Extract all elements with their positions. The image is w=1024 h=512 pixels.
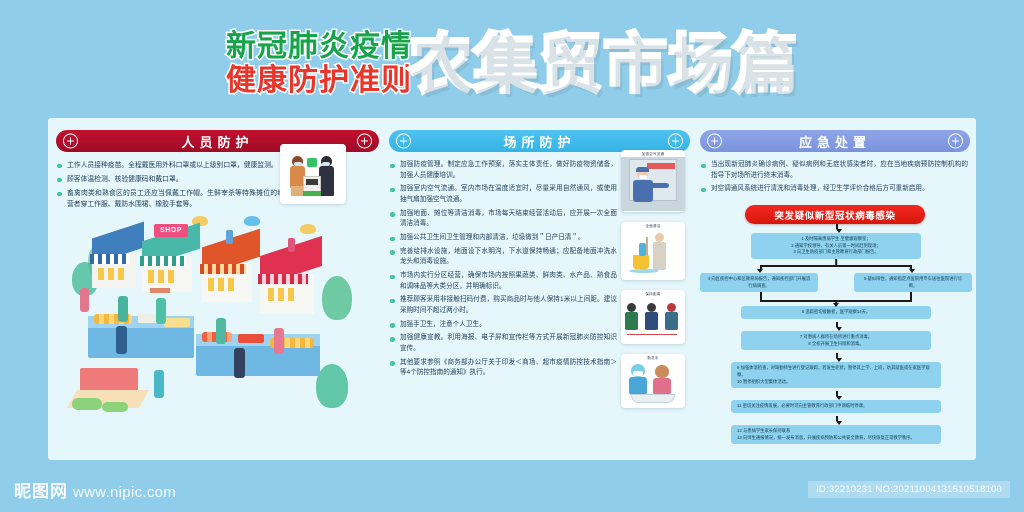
shopper-figure	[234, 348, 245, 378]
stall-window	[98, 268, 104, 280]
washing-illustration	[621, 361, 685, 407]
shopper-figure	[80, 288, 89, 312]
watermark-url: www.nipic.com	[73, 485, 176, 500]
plus-icon	[707, 134, 722, 149]
mask-icon	[633, 371, 643, 376]
distance-illustration	[621, 297, 685, 343]
thumbnail-caption: 全面清洁	[621, 222, 685, 229]
person-head	[647, 303, 656, 312]
list-item: 当出现新冠肺炎确诊病例、疑似病例和无症状感染者时，应在当地疾病预防控制机构的指导…	[700, 160, 968, 181]
grass-patch	[102, 402, 128, 412]
thumbnail-health-code	[280, 144, 346, 204]
content-board: 人员防护 工作人员接种疫苗。全程戴医用外科口罩或以上级别口罩，健康监测。 顾客体…	[48, 118, 976, 460]
plus-icon	[948, 134, 963, 149]
shopper-figure	[156, 298, 166, 324]
title-line-1: 新冠肺炎疫情	[226, 30, 412, 64]
flow-step-top: 1 及时隔离患病学生 至健康观察室； 2 通知学校领导，有关人员第一时间赶到现场…	[751, 233, 921, 259]
floor-shadow	[629, 269, 659, 273]
shopper-figure	[274, 328, 284, 354]
billboard	[80, 368, 138, 392]
emergency-banner: 突发疑似新型冠状病毒感染	[745, 205, 925, 224]
staff-body	[319, 166, 334, 196]
air-circulation-illustration	[621, 157, 685, 211]
title-main: 农集贸市场篇	[408, 32, 798, 96]
thumbnail-caption: 保持距离	[621, 290, 685, 297]
thumbnail-caption: 勤洗手	[621, 354, 685, 361]
bird-icon	[300, 224, 316, 234]
green-health-code-icon	[307, 158, 317, 167]
plus-icon	[396, 134, 411, 149]
cleaning-illustration	[621, 229, 685, 279]
list-item: 对空调通风系统进行清洗和消毒处理，经卫生学评价合格后方可重新启用。	[700, 184, 968, 195]
mask-icon	[639, 175, 647, 179]
cleaner-head	[655, 233, 664, 242]
venue-bullet-list: 加强防疫管理。制定应急工作预案，落实主体责任，做好防疫物资储备，加强人员健康培训…	[389, 160, 617, 379]
list-item: 加强手卫生，注意个人卫生。	[389, 320, 617, 331]
thumbnail-caption: 加强空气流通	[621, 150, 685, 157]
stall-awning	[140, 256, 186, 266]
thumbnail-wash-hands: 勤洗手	[621, 354, 685, 408]
section-header-venue: 场所防护	[389, 130, 690, 152]
child2-body	[653, 378, 671, 395]
shop-sign: SHOP	[154, 224, 188, 237]
stall-window	[148, 270, 154, 283]
bird-icon	[244, 216, 260, 226]
list-item: 加强公共卫生间卫生管理和内部清洁，垃圾做到＂日产日清＂。	[389, 233, 617, 244]
emergency-banner-label: 突发疑似新型冠状病毒感染	[774, 208, 895, 222]
stall-window	[168, 270, 174, 283]
health-code-illustration	[280, 144, 346, 204]
person-head	[627, 303, 636, 312]
list-item: 工作人员接种疫苗。全程戴医用外科口罩或以上级别口罩，健康监测。	[56, 160, 284, 171]
list-item: 顾客体温检测、核验健康码和戴口罩。	[56, 174, 284, 185]
asset-id-badge: ID:32210231 NO:20211004131510518100	[808, 481, 1010, 498]
scanner-base	[303, 191, 321, 196]
stall-counter	[150, 288, 170, 293]
thumbnail-full-cleaning: 全面清洁	[621, 222, 685, 280]
tree-icon	[316, 364, 348, 408]
plus-icon	[668, 134, 683, 149]
stall-window	[208, 278, 214, 291]
section-header-emergency-label: 应急处置	[799, 132, 871, 151]
stall-window	[278, 288, 284, 301]
rooftop-person	[226, 230, 233, 244]
column-personnel: 人员防护 工作人员接种疫苗。全程戴医用外科口罩或以上级别口罩，健康监测。 顾客体…	[48, 118, 379, 460]
child-body	[629, 377, 647, 395]
title-line-2: 健康防护准则	[226, 64, 412, 98]
sink	[631, 394, 675, 403]
stall-window	[158, 270, 164, 283]
spray-bottle	[639, 243, 646, 256]
watermark: 昵图网 www.nipic.com	[14, 483, 176, 500]
cleaner-body	[653, 242, 666, 270]
list-item: 其他要求参照《商务部办公厅关于印发＜商场、超市疫情防控技术指南＞等4个防控指南的…	[389, 358, 617, 379]
flow-step-78: 7 对患病人群所在场所进行重点消毒。 8 全校开展卫生扫除和消毒。	[741, 331, 931, 350]
person-head	[667, 303, 676, 312]
scanner-screen	[306, 179, 318, 185]
person-body	[645, 312, 658, 330]
section-header-personnel-label: 人员防护	[181, 132, 253, 151]
grass-patch	[72, 398, 102, 410]
emergency-bullet-list: 当出现新冠肺炎确诊病例、疑似病例和无症状感染者时，应在当地疾病预防控制机构的指导…	[700, 160, 968, 195]
flow-step-910: 9 加强体温检查，对缺勤师生进行登记跟踪，若发生症状，暂停其上学、上班，劝其就医…	[731, 362, 941, 388]
market-illustration: SHOP	[48, 214, 378, 450]
footer-bar: 昵图网 www.nipic.com ID:32210231 NO:2021100…	[0, 462, 1024, 512]
thumbnail-keep-distance: 保持距离	[621, 290, 685, 344]
flow-branch-row: 4 向区疾控中心和区教育局报告，通知疾控部门开展流行病调查。 5 疑似阳性，通知…	[700, 273, 972, 292]
thumbnail-air-circulation: 加强空气流通	[621, 150, 685, 212]
distance-line	[627, 334, 677, 335]
window-banner	[647, 163, 675, 169]
flow-merge	[700, 292, 972, 306]
worker-body	[633, 180, 653, 202]
list-item: 加强室内空气流通。室内市场在温度适宜时，尽量采用自然通风，或使用抽气扇加强空气流…	[389, 184, 617, 205]
stall-awning	[258, 274, 308, 284]
stall-awning	[200, 264, 246, 274]
stall-window	[118, 268, 124, 280]
list-item: 畜禽肉类和熟食区的员工还应当佩戴工作帽。生鲜宰杀等特殊摊位的经营者穿工作服、戴防…	[56, 188, 284, 210]
emergency-flowchart: 1 及时隔离患病学生 至健康观察室； 2 通知学校领导，有关人员第一时间赶到现场…	[700, 224, 972, 444]
child2-head	[655, 365, 669, 378]
worker-arm	[651, 183, 669, 188]
mask-icon	[294, 162, 302, 166]
flow-split	[700, 259, 972, 273]
stall-window	[268, 288, 274, 301]
section-header-emergency: 应急处置	[700, 130, 970, 152]
flow-step-6: 6 追踪密切接触者，医学观察14天。	[741, 306, 931, 319]
produce-items	[164, 318, 190, 327]
list-item: 加强健康宣教。利用海报、电子屏和宣传栏等方式开展新冠肺炎防控知识宣传。	[389, 333, 617, 354]
list-item: 加强地面、摊位等清洁消毒，市场每天结束经营活动后，应开展一次全面清洁消毒。	[389, 209, 617, 230]
worker-cap	[636, 167, 649, 172]
shopper-figure	[216, 318, 226, 344]
watermark-brand: 昵图网	[14, 483, 68, 500]
poster-title: 新冠肺炎疫情 健康防护准则 农集贸市场篇	[0, 18, 1024, 110]
shopper-figure	[154, 370, 164, 398]
stall-window	[288, 288, 294, 301]
list-item: 市场内实行分区经营，确保市场内按照果蔬类、鲜肉类、水产品、熟食品和调味品等大类分…	[389, 271, 617, 292]
list-item: 完善给排水设施，地面设下水明沟，下水道保持畅通；应配备地面冲洗水龙头和消毒设施。	[389, 247, 617, 268]
shop-sign-label: SHOP	[160, 227, 182, 234]
flow-step-right: 5 疑似阳性，通知指定点医院用专车送往医院进行诊断。	[854, 273, 972, 292]
stall-window	[228, 278, 234, 291]
bucket	[633, 255, 649, 269]
list-item: 推荐顾客采用非接触扫码付费，购买商品时与他人保持1米以上间距。建议采购时间不超过…	[389, 295, 617, 316]
produce-items	[238, 334, 264, 343]
person-body	[625, 312, 638, 330]
title-subtitle-group: 新冠肺炎疫情 健康防护准则	[226, 30, 412, 97]
person-body	[665, 312, 678, 330]
mask-icon	[322, 162, 330, 166]
list-item: 加强防疫管理。制定应急工作预案，落实主体责任，做好防疫物资储备，加强人员健康培训…	[389, 160, 617, 181]
flow-step-1213: 12 与患病学生家长保持联系 13 向师生通报情况，统一发布消息，开展疾病预防和…	[731, 425, 941, 444]
shopper-figure	[118, 296, 128, 322]
market-stall-red	[254, 238, 330, 324]
poster-root: 新冠肺炎疫情 健康防护准则 农集贸市场篇 人员防护 工作人员接种疫苗。全程戴医用…	[0, 0, 1024, 512]
plus-icon	[63, 134, 78, 149]
flow-step-left: 4 向区疾控中心和区教育局报告，通知疾控部门开展流行病调查。	[700, 273, 818, 292]
plus-icon	[357, 134, 372, 149]
stall-awning	[90, 254, 130, 264]
stall-window	[108, 268, 114, 280]
flow-step-11: 11 密切关注疫情发展，必要时可向主管教育行政部门申请临时停课。	[731, 400, 941, 413]
section-header-venue-label: 场所防护	[503, 132, 575, 151]
personnel-bullet-list: 工作人员接种疫苗。全程戴医用外科口罩或以上级别口罩，健康监测。 顾客体温检测、核…	[56, 160, 284, 210]
stall-window	[218, 278, 224, 291]
shopper-figure	[116, 326, 127, 354]
column-venue: 场所防护 加强防疫管理。制定应急工作预案，落实主体责任，做好防疫物资储备，加强人…	[389, 118, 690, 460]
column-emergency: 应急处置 当出现新冠肺炎确诊病例、疑似病例和无症状感染者时，应在当地疾病预防控制…	[700, 118, 976, 460]
rooftop-person	[288, 238, 295, 252]
